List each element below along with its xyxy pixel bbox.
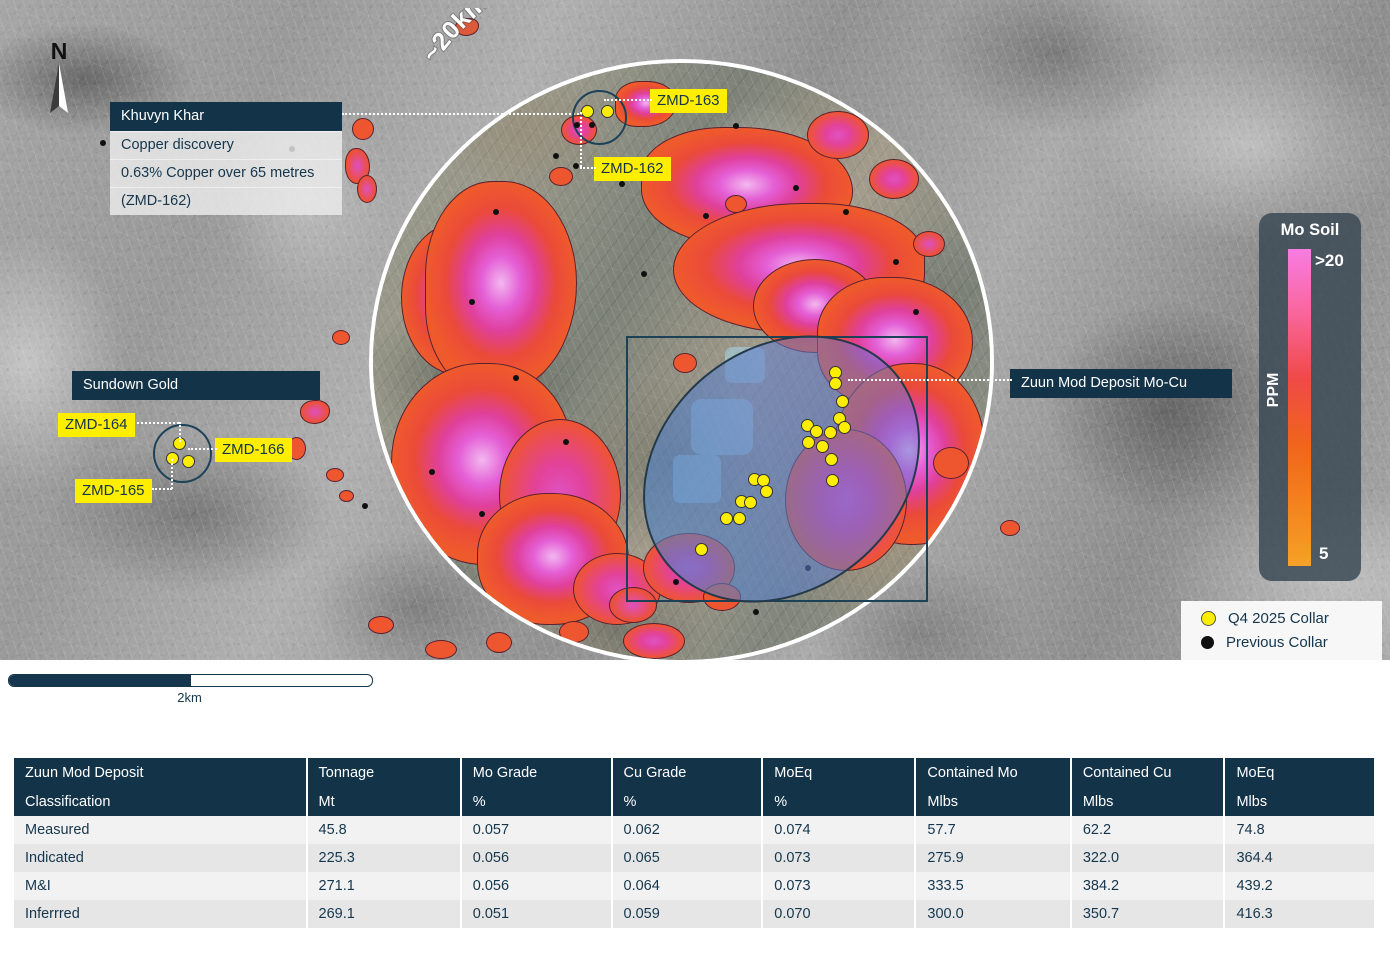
khuvyn-khar-line: (ZMD-162) [110,187,342,215]
table-body: Measured45.80.0570.0620.07457.762.274.8I… [14,816,1375,928]
soil-anomaly-blob [623,623,685,659]
cell-value: 0.056 [461,844,612,872]
q4-2025-collar[interactable] [829,377,842,390]
label-zmd-163: ZMD-163 [650,89,727,113]
soil-anomaly-blob [913,231,945,257]
previous-collar-swatch-icon [1201,636,1214,649]
q4-2025-collar[interactable] [720,512,733,525]
table-row: Inferrred269.10.0510.0590.070300.0350.74… [14,900,1375,928]
q4-2025-collar[interactable] [816,440,829,453]
cell-classification: M&I [14,872,307,900]
legend-item-q4-collar: Q4 2025 Collar [1191,606,1372,630]
cell-value: 0.073 [762,844,915,872]
legend-label: Q4 2025 Collar [1228,610,1329,627]
zmd-166-leader-line [188,448,217,450]
q4-2025-collar[interactable] [581,105,594,118]
th-tonnage: Tonnage [307,758,461,788]
scale-bar: 2km [8,674,373,705]
label-zmd-164: ZMD-164 [58,413,135,437]
cell-value: 322.0 [1071,844,1225,872]
previous-collar [703,213,709,219]
zmd-164-leader-line-h [137,422,179,424]
zuun-mod-leader-line [848,379,1012,381]
th-mo-grade: Mo Grade [461,758,612,788]
cell-value: 275.9 [915,844,1070,872]
label-zmd-166: ZMD-166 [215,438,292,462]
cell-value: 364.4 [1224,844,1375,872]
zmd-165-leader-line-v [171,459,173,489]
north-label: N [30,40,88,63]
scale-bar-fill [9,675,191,686]
q4-2025-collar[interactable] [838,421,851,434]
label-zmd-165: ZMD-165 [75,479,152,503]
cell-value: 0.051 [461,900,612,928]
cell-value: 0.070 [762,900,915,928]
cell-value: 0.074 [762,816,915,844]
q4-2025-collar[interactable] [695,543,708,556]
scale-bar-capsule [8,674,373,687]
colorbar-max-label: >20 [1315,251,1344,271]
q4-2025-collar[interactable] [802,436,815,449]
cell-value: 384.2 [1071,872,1225,900]
previous-collar [100,140,106,146]
cell-value: 62.2 [1071,816,1225,844]
cell-value: 0.056 [461,872,612,900]
q4-collar-swatch-icon [1201,611,1216,626]
legend-label: Previous Collar [1226,634,1328,651]
khuvyn-khar-line: 0.63% Copper over 65 metres [110,159,342,187]
previous-collar [619,181,625,187]
q4-2025-collar[interactable] [733,512,746,525]
colorbar-axis-label: PPM [1265,362,1283,418]
previous-collar [753,609,759,615]
q4-2025-collar[interactable] [182,455,195,468]
previous-collar [553,153,559,159]
zmd-162-leader-line-h [580,167,596,169]
table-row: Indicated225.30.0560.0650.073275.9322.03… [14,844,1375,872]
th-unit-pct: % [612,788,763,816]
q4-2025-collar[interactable] [760,485,773,498]
cell-value: 416.3 [1224,900,1375,928]
khuvyn-khar-title: Khuvyn Khar [110,102,342,131]
q4-2025-collar[interactable] [825,453,838,466]
soil-anomaly-blob [389,533,425,563]
cell-value: 350.7 [1071,900,1225,928]
table-row: Measured45.80.0570.0620.07457.762.274.8 [14,816,1375,844]
khuvyn-khar-callout: Khuvyn Khar Copper discovery 0.63% Coppe… [110,102,342,215]
previous-collar [589,122,595,128]
cell-value: 439.2 [1224,872,1375,900]
cell-value: 0.073 [762,872,915,900]
q4-2025-collar[interactable] [826,474,839,487]
cell-value: 0.064 [612,872,763,900]
th-contained-mo: Contained Mo [915,758,1070,788]
previous-collar [793,185,799,191]
cell-value: 0.057 [461,816,612,844]
table-header-row-2: Classification Mt % % % Mlbs Mlbs Mlbs [14,788,1375,816]
cell-value: 57.7 [915,816,1070,844]
th-cu-grade: Cu Grade [612,758,763,788]
previous-collar [362,503,368,509]
cell-value: 300.0 [915,900,1070,928]
previous-collar [429,469,435,475]
zuun-mod-deposit-label: Zuun Mod Deposit Mo-Cu [1010,369,1232,398]
previous-collar [843,209,849,215]
q4-2025-collar[interactable] [744,496,757,509]
previous-collar [913,309,919,315]
cell-value: 0.059 [612,900,763,928]
resource-table: Zuun Mod Deposit Tonnage Mo Grade Cu Gra… [14,758,1376,928]
table-header-row-1: Zuun Mod Deposit Tonnage Mo Grade Cu Gra… [14,758,1375,788]
soil-anomaly-blob [1000,520,1020,536]
cell-classification: Inferrred [14,900,307,928]
colorbar-gradient [1288,249,1311,566]
q4-2025-collar[interactable] [836,395,849,408]
soil-anomaly-blob [921,119,953,147]
th-deposit: Zuun Mod Deposit [14,758,307,788]
cell-value: 333.5 [915,872,1070,900]
th-moeq-contained: MoEq [1224,758,1375,788]
th-unit-mlbs: Mlbs [915,788,1070,816]
map-panel: ~20km² Mo+Cu Soil Anomaly N Khuvyn Khar … [0,0,1390,660]
previous-collar [573,163,579,169]
collar-legend: Q4 2025 Collar Previous Collar [1181,601,1382,660]
th-classification: Classification [14,788,307,816]
cell-value: 269.1 [307,900,461,928]
table-header: Zuun Mod Deposit Tonnage Mo Grade Cu Gra… [14,758,1375,816]
colorbar-title: Mo Soil [1259,221,1361,240]
cell-value: 271.1 [307,872,461,900]
cell-value: 0.062 [612,816,763,844]
cell-value: 74.8 [1224,816,1375,844]
scale-bar-label: 2km [8,690,371,705]
previous-collar [563,439,569,445]
zmd-163-leader-line [604,99,652,101]
previous-collar [893,259,899,265]
soil-anomaly-blob [725,195,747,213]
khuvyn-khar-leader-line [342,113,587,115]
khuvyn-khar-line: Copper discovery [110,131,342,159]
sundown-gold-label: Sundown Gold [72,371,320,400]
th-unit-pct: % [762,788,915,816]
previous-collar [733,123,739,129]
soil-anomaly-blob [549,167,573,186]
soil-anomaly-blob [807,111,869,159]
cell-classification: Measured [14,816,307,844]
legend-item-previous-collar: Previous Collar [1191,630,1372,654]
zmd-164-leader-line-v [179,422,181,442]
q4-2025-collar[interactable] [601,105,614,118]
previous-collar [641,271,647,277]
sundown-gold-site-circle [153,424,212,483]
th-moeq-grade: MoEq [762,758,915,788]
soil-anomaly-blob [326,468,344,482]
north-arrow: N [30,40,88,115]
cell-value: 225.3 [307,844,461,872]
table-row: M&I271.10.0560.0640.073333.5384.2439.2 [14,872,1375,900]
cell-classification: Indicated [14,844,307,872]
soil-anomaly-blob [559,621,589,643]
mo-soil-colorbar: Mo Soil >20 5 PPM [1259,213,1361,581]
th-contained-cu: Contained Cu [1071,758,1225,788]
previous-collar [479,511,485,517]
soil-anomaly-blob [332,330,350,345]
soil-anomaly-blob [869,159,919,199]
q4-2025-collar[interactable] [824,426,837,439]
cell-value: 45.8 [307,816,461,844]
soil-anomaly-blob [339,490,354,502]
previous-collar [469,299,475,305]
colorbar-min-label: 5 [1319,544,1328,564]
th-unit-mlbs: Mlbs [1224,788,1375,816]
north-arrow-icon [30,63,88,115]
th-unit-mlbs: Mlbs [1071,788,1225,816]
zmd-165-leader-line-h [152,488,172,490]
cell-value: 0.065 [612,844,763,872]
previous-collar [493,209,499,215]
th-unit-pct: % [461,788,612,816]
label-zmd-162: ZMD-162 [594,157,671,181]
th-unit-mt: Mt [307,788,461,816]
soil-anomaly-blob [933,447,969,479]
zmd-162-leader-line-v [580,112,582,167]
soil-anomaly-blob [352,118,374,140]
previous-collar [513,375,519,381]
